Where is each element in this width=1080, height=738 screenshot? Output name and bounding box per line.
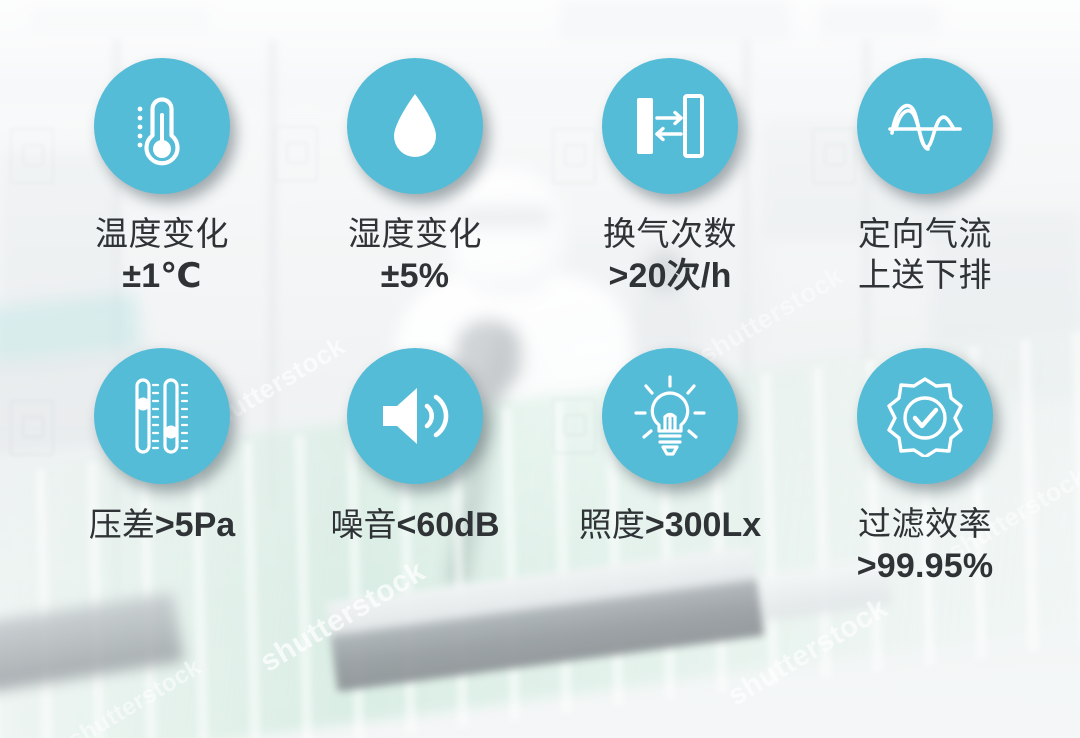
infographic-poster: shutterstock shutterstock shutterstock s… bbox=[0, 0, 1080, 738]
metric-icon-badge bbox=[602, 348, 738, 484]
metric-icon-badge bbox=[94, 348, 230, 484]
metric-air-exchange[interactable]: 换气次数 >20次/h bbox=[540, 58, 800, 295]
metric-label: 温度变化 bbox=[32, 216, 292, 253]
speaker-icon bbox=[375, 380, 455, 452]
metric-icon-badge bbox=[857, 58, 993, 194]
metrics-grid: 温度变化 ±1℃ 湿度变化 ±5% bbox=[0, 0, 1080, 738]
metric-caption: 噪音<60dB bbox=[285, 506, 545, 544]
metric-icon-badge bbox=[94, 58, 230, 194]
air-exchange-icon bbox=[629, 88, 711, 164]
metric-label: 照度 bbox=[579, 506, 645, 543]
metric-value: ±1℃ bbox=[32, 257, 292, 295]
metric-icon-badge bbox=[347, 58, 483, 194]
certified-badge-icon bbox=[884, 375, 966, 457]
metric-caption: 照度>300Lx bbox=[540, 506, 800, 544]
lightbulb-icon bbox=[628, 373, 712, 459]
metric-value: <60dB bbox=[397, 506, 500, 544]
metric-caption: 湿度变化 ±5% bbox=[285, 216, 545, 295]
metric-temperature[interactable]: 温度变化 ±1℃ bbox=[32, 58, 292, 295]
pressure-slider-icon bbox=[125, 374, 199, 458]
metric-label: 换气次数 bbox=[540, 216, 800, 253]
metric-icon-badge bbox=[347, 348, 483, 484]
metric-label: 湿度变化 bbox=[285, 216, 545, 253]
metric-label: 定向气流 bbox=[795, 216, 1055, 253]
metric-value: >300Lx bbox=[645, 506, 761, 544]
metric-line: 压差>5Pa bbox=[32, 506, 292, 544]
metric-line: 照度>300Lx bbox=[540, 506, 800, 544]
metric-value: ±5% bbox=[285, 257, 545, 295]
metric-value: >20次/h bbox=[540, 257, 800, 295]
metric-icon-badge bbox=[602, 58, 738, 194]
metric-caption: 过滤效率 >99.95% bbox=[795, 506, 1055, 585]
metric-label: 压差 bbox=[89, 506, 155, 543]
metric-humidity[interactable]: 湿度变化 ±5% bbox=[285, 58, 545, 295]
metric-value: >5Pa bbox=[155, 506, 235, 544]
metric-caption: 定向气流 上送下排 bbox=[795, 216, 1055, 294]
thermometer-icon bbox=[125, 85, 199, 167]
metric-label: 过滤效率 bbox=[795, 506, 1055, 543]
metric-pressure[interactable]: 压差>5Pa bbox=[32, 348, 292, 544]
metric-icon-badge bbox=[857, 348, 993, 484]
metric-value: 上送下排 bbox=[795, 257, 1055, 294]
airflow-wave-icon bbox=[882, 89, 968, 163]
metric-caption: 压差>5Pa bbox=[32, 506, 292, 544]
metric-value: >99.95% bbox=[795, 547, 1055, 585]
metric-noise[interactable]: 噪音<60dB bbox=[285, 348, 545, 544]
metric-airflow[interactable]: 定向气流 上送下排 bbox=[795, 58, 1055, 294]
metric-line: 噪音<60dB bbox=[285, 506, 545, 544]
water-drop-icon bbox=[381, 86, 449, 166]
metric-illuminance[interactable]: 照度>300Lx bbox=[540, 348, 800, 544]
metric-filter-efficiency[interactable]: 过滤效率 >99.95% bbox=[795, 348, 1055, 585]
metric-caption: 温度变化 ±1℃ bbox=[32, 216, 292, 295]
metric-label: 噪音 bbox=[331, 506, 397, 543]
metric-caption: 换气次数 >20次/h bbox=[540, 216, 800, 295]
